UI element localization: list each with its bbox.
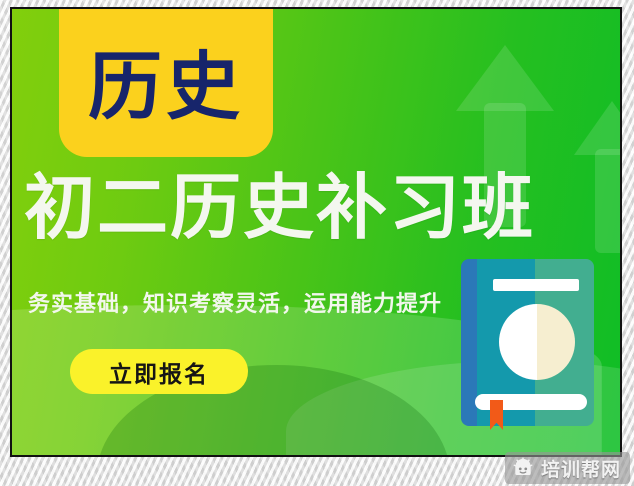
banner-headline: 初二历史补习班: [24, 172, 604, 244]
subject-chip: 历史: [59, 7, 273, 157]
enroll-now-button[interactable]: 立即报名: [70, 349, 248, 394]
book-title-bar: [493, 279, 579, 291]
site-watermark: 培训帮网: [505, 452, 630, 484]
banner-subtitle: 务实基础，知识考察灵活，运用能力提升: [28, 286, 442, 318]
subject-chip-label: 历史: [88, 50, 244, 124]
promo-banner: 历史 初二历史补习班 务实基础，知识考察灵活，运用能力提升 立即报名: [10, 7, 622, 457]
book-icon: [461, 259, 594, 426]
up-arrow-head: [574, 101, 622, 155]
enroll-now-label: 立即报名: [109, 355, 209, 389]
up-arrow-head: [456, 45, 554, 111]
sun-face-icon: [512, 457, 534, 479]
site-watermark-text: 培训帮网: [541, 455, 621, 482]
book-circle-emblem: [499, 304, 575, 380]
